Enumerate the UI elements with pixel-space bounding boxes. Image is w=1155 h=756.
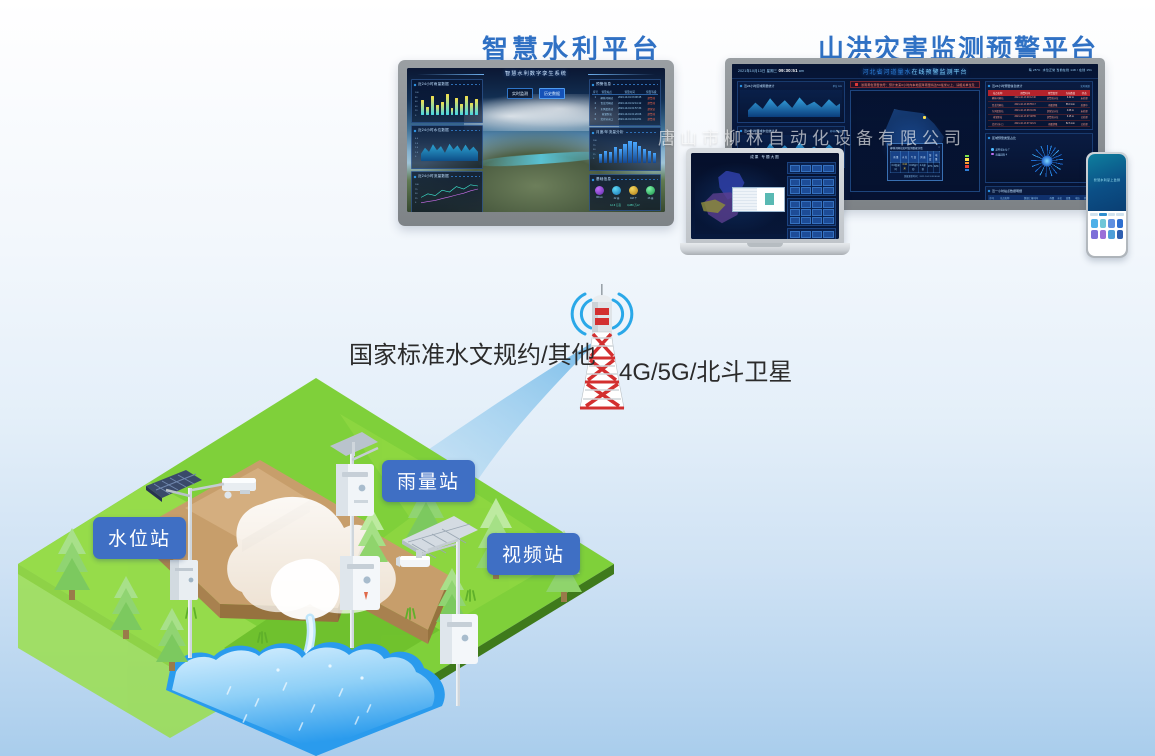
- popup-col-temp: 气 温: [908, 152, 918, 162]
- app-flow-icon[interactable]: [1108, 219, 1115, 228]
- popup-footer: 数据更新时间：2021-10-13 09:30:00: [890, 173, 940, 178]
- total-annual-supply: 3,280 万m³: [627, 203, 640, 207]
- station-icon: [629, 186, 638, 195]
- basic-item: 86 km: [595, 186, 604, 200]
- axis-y-rainfall: 100806040200: [415, 91, 419, 118]
- panel-title: 近一小时站点数据明细: [992, 189, 1022, 193]
- pie-legend: 超警戒水位 7 雨量超限 4: [991, 148, 1009, 157]
- popup-col-wind: 风 速: [919, 152, 927, 162]
- basic-info-items: 86 km 42 座 118 个 26 座: [592, 184, 658, 200]
- bar-series-rainfall: [421, 91, 478, 115]
- phone-banner: 智慧水利掌上监测: [1088, 154, 1126, 211]
- cell-station: 北岸分水口: [599, 117, 615, 122]
- popup-preview: [757, 188, 783, 210]
- panel-waterlevel-title: 近24小时水位数据: [418, 128, 449, 133]
- table-station-detail: 序号 站点名称 数据上报时间 雨量 水位 流量 电压 状态 1: [988, 195, 1090, 200]
- header-date: 2021年10月13日 星期三: [738, 69, 777, 73]
- canal-icon: [595, 186, 604, 195]
- popup-val-temp: 8.08米³/秒: [908, 162, 918, 172]
- laptop-lid: 成果 专题大图: [686, 148, 844, 244]
- laptop-card: [787, 162, 836, 174]
- panel-title: 近24小时区域水位统计: [744, 129, 774, 133]
- panel-basic-title: 基础信息: [596, 177, 611, 182]
- alert-text: 暴雨黄色预警信号：预计未来6小时内本地区降雨量将达50毫米以上，请相关单位及人员…: [861, 83, 975, 87]
- title-prefix: 河北省河道量水: [862, 70, 911, 76]
- header-time-suffix: am: [799, 69, 804, 73]
- stat-grid: [790, 179, 834, 194]
- table-warning-info: 序号 预警站点 预警时间 预警等级 1 柳林河闸站 2023-10-01 03:…: [592, 89, 658, 122]
- popup-val-rain: 0.0毫米/时: [891, 162, 901, 172]
- panel-flow-analysis-title: 月度/年流量分析: [596, 130, 624, 135]
- popup-col-rain: 雨 量: [891, 152, 901, 162]
- monitor1-screen[interactable]: 智慧水利数字孪生系统 实时监测 历史数据 近24小时雨量数据 100806040…: [407, 68, 665, 212]
- weather-text: 晴 25°C: [1029, 68, 1041, 72]
- phone-screen[interactable]: 智慧水利掌上监测: [1088, 154, 1126, 256]
- tab-warning[interactable]: [1108, 213, 1116, 216]
- panel-divider: [451, 84, 480, 85]
- laptop-side-panels: [787, 162, 836, 234]
- tab-home[interactable]: [1090, 213, 1098, 216]
- cell-time: 2023-10-01 00:44:51: [615, 117, 645, 122]
- basic-item: 118 个: [629, 186, 638, 200]
- cell-index: 5: [592, 117, 599, 122]
- panel-divider: [626, 132, 658, 133]
- app-report-icon[interactable]: [1100, 230, 1107, 239]
- network-annotation: 4G/5G/北斗卫星: [619, 352, 792, 387]
- line-series-flow: [421, 183, 478, 207]
- chart-monthly-flow: 1007550250: [592, 137, 658, 167]
- col-rain: 雨量: [1048, 195, 1056, 200]
- cell-level: 超警戒: [645, 117, 658, 122]
- basic-totals: 12.6 万亩 3,280 万m³: [592, 200, 658, 207]
- panel-title: 近24小时区域雨量统计: [744, 84, 774, 88]
- map-station-popup: 柳林河闸站实时监测数据详情× 雨 量 水 位 气 温 风 速 湿 度 电 量: [887, 143, 943, 181]
- popup-val-battery: 92%: [933, 162, 939, 172]
- cell-station: 东风渠首站: [599, 106, 615, 111]
- panel-rainfall-title: 近24小时雨量数据: [418, 82, 449, 87]
- label-rainfall-station[interactable]: 雨量站: [382, 460, 475, 502]
- app-video-icon[interactable]: [1117, 219, 1124, 228]
- panel-warning-stats: 近24小时预警信息统计实时刷新 站点名称 预警时间 预警类型 当前数值 状态 柳…: [985, 81, 1093, 130]
- panel-warning-type-ratio: 区域预警类型占比 超警戒水位 7 雨量超限 4: [985, 133, 1093, 183]
- pie-core: [1042, 156, 1053, 167]
- laptop-card: [787, 228, 836, 239]
- legend-warning-swatch: [965, 158, 969, 161]
- map-legend: [965, 155, 969, 172]
- legend-normal-swatch: [965, 155, 969, 158]
- cell-status: 已处理: [1078, 121, 1090, 127]
- popup-header-row: 雨 量 水 位 气 温 风 速 湿 度 电 量: [891, 152, 940, 162]
- map-container[interactable]: 柳林河闸站实时监测数据详情× 雨 量 水 位 气 温 风 速 湿 度 电 量: [850, 90, 980, 192]
- legend-offline-swatch: [965, 169, 969, 172]
- popup-val-level: 3.42米: [901, 162, 908, 172]
- panel-badge: 实时刷新: [1080, 84, 1090, 88]
- panel-badge: 单位 mm: [833, 84, 842, 88]
- axis-y-monthly: 1007550250: [593, 139, 597, 162]
- label-video-station[interactable]: 视频站: [487, 533, 580, 575]
- panel-flow-title: 近24小时流量数据: [418, 174, 449, 179]
- laptop-card: [787, 198, 836, 226]
- axis-y-waterlevel: 4.03.02.01.00: [415, 137, 418, 160]
- control-cabinet-icon: [340, 556, 380, 610]
- popup-val-wind: 2.4米/秒: [919, 162, 927, 172]
- axis-y-flow: 1007550250: [415, 183, 419, 206]
- laptop-popup: [732, 187, 784, 211]
- stat-grid: [790, 231, 834, 240]
- area-fill: [748, 93, 840, 117]
- basic-value: 118 个: [629, 196, 638, 200]
- phone-device: 智慧水利掌上监测: [1086, 152, 1128, 258]
- chart-pie-warning-type: 超警戒水位 7 雨量超限 4: [988, 142, 1090, 180]
- app-settings-icon[interactable]: [1117, 230, 1124, 239]
- chart-rainfall-bar: 100806040200: [414, 89, 480, 119]
- dashboard1-title: 智慧水利数字孪生系统: [407, 70, 665, 77]
- cell-station: 柳林河闸站: [599, 95, 615, 101]
- lake: [166, 642, 445, 756]
- header-datetime: 2021年10月13日 星期三 09:30:51 am: [738, 68, 804, 73]
- header-time: 09:30:51: [779, 68, 798, 73]
- gate-icon: [612, 186, 621, 195]
- header-meta: 晴 25°C 水位正常 当前在线 148 / 在线 151: [1029, 68, 1092, 72]
- popup-col-battery: 电 量: [933, 152, 939, 162]
- alert-banner: 暴雨黄色预警信号：预计未来6小时内本地区降雨量将达50毫米以上，请相关单位及人员…: [850, 81, 980, 88]
- dashboard2-right-column: 近24小时预警信息统计实时刷新 站点名称 预警时间 预警类型 当前数值 状态 柳…: [985, 81, 1093, 194]
- control-cabinet-icon: [336, 464, 374, 516]
- monitor-smart-water: 智慧水利数字孪生系统 实时监测 历史数据 近24小时雨量数据 100806040…: [398, 60, 674, 226]
- phone-app-title: 智慧水利掌上监测: [1088, 178, 1126, 182]
- col-index: 序号: [988, 195, 996, 200]
- illustration-stage: 智慧水利平台 山洪灾害监测预警平台 智慧水利数字孪生系统 实时监测 历史数据 近…: [0, 0, 1155, 756]
- app-rainfall-icon[interactable]: [1091, 219, 1098, 228]
- popup-table: 雨 量 水 位 气 温 风 速 湿 度 电 量 0.0毫米/时 3.42米: [890, 151, 940, 173]
- cell-value: 52.6 mm: [1062, 121, 1078, 127]
- table-row: 5 北岸分水口 2023-10-01 00:44:51 超警戒: [592, 117, 658, 122]
- panel-title: 区域预警类型占比: [992, 136, 1016, 140]
- tab-monitor[interactable]: [1099, 213, 1107, 216]
- panel-basic-info: 基础信息 86 km 42 座 118 个 26 座 12.6 万亩 3,280…: [589, 174, 661, 211]
- legend-entry: 雨量超限 4: [991, 153, 1009, 158]
- panel-selector[interactable]: 柳林河闸站: [830, 129, 842, 133]
- app-waterlevel-icon[interactable]: [1100, 219, 1107, 228]
- basic-value: 86 km: [595, 196, 604, 199]
- pill-history[interactable]: 历史数据: [539, 88, 565, 99]
- region-map[interactable]: 柳林河闸站实时监测数据详情× 雨 量 水 位 气 温 风 速 湿 度 电 量: [857, 97, 973, 185]
- laptop-notch: [747, 243, 783, 247]
- panel-title: 近24小时预警信息统计: [992, 84, 1022, 88]
- panel-divider: [451, 176, 480, 177]
- laptop-title: 成果 专题大图: [691, 155, 839, 160]
- popup-title: 柳林河闸站实时监测数据详情: [890, 146, 923, 150]
- laptop-device: 成果 专题大图: [680, 148, 850, 263]
- basic-value: 26 座: [646, 196, 655, 200]
- total-irrigation-area: 12.6 万亩: [610, 203, 621, 207]
- laptop-card: [787, 176, 836, 196]
- tab-profile[interactable]: [1116, 213, 1124, 216]
- legend-danger-swatch: [965, 165, 969, 168]
- popup-value-row: 0.0毫米/时 3.42米 8.08米³/秒 2.4米/秒 27% 92%: [891, 162, 940, 172]
- panel-warning-info: 预警信息 序号 预警站点 预警时间 预警等级 1 柳林河闸站 2023-10-0…: [589, 79, 661, 126]
- basic-item: 26 座: [646, 186, 655, 200]
- col-flow: 流量: [1063, 195, 1072, 200]
- panel-divider: [451, 130, 480, 131]
- panel-divider: [613, 179, 658, 180]
- popup-list: [733, 188, 757, 210]
- panel-rainfall-24h: 近24小时雨量数据 100806040200: [411, 79, 483, 123]
- popup-close-icon[interactable]: ×: [938, 146, 939, 150]
- area-series-waterlevel: [421, 137, 478, 161]
- control-cabinet-icon: [440, 614, 478, 664]
- col-station: 站点名称: [996, 195, 1014, 200]
- alert-icon: [855, 83, 858, 86]
- panel-area-rainfall: 近24小时区域雨量统计单位 mm: [737, 81, 845, 123]
- cell-type: 雨量超限: [1043, 121, 1062, 127]
- app-device-icon[interactable]: [1108, 230, 1115, 239]
- popup-col-level: 水 位: [901, 152, 908, 162]
- col-report-time: 数据上报时间: [1014, 195, 1048, 200]
- panel-divider: [613, 84, 658, 85]
- chart-flow-line: 1007550250: [414, 181, 480, 211]
- dashboard2-header: 2021年10月13日 星期三 09:30:51 am 河北省河道量水在线预警监…: [732, 64, 1098, 79]
- table-header-row: 序号 站点名称 数据上报时间 雨量 水位 流量 电压 状态: [988, 195, 1090, 200]
- stat-grid: [790, 201, 834, 224]
- basic-value: 42 座: [612, 196, 621, 200]
- col-level: 水位: [1056, 195, 1064, 200]
- chart-waterlevel-area: 4.03.02.01.00: [414, 135, 480, 165]
- laptop-screen[interactable]: 成果 专题大图: [691, 153, 839, 239]
- table-warning-stats: 站点名称 预警时间 预警类型 当前数值 状态 柳林河闸站 2021-10-13 …: [988, 90, 1090, 127]
- cell-station: 青龙湾闸站: [599, 101, 615, 106]
- panel-station-detail: 近一小时站点数据明细 序号 站点名称 数据上报时间 雨量 水位 流量 电压 状态: [985, 186, 1093, 200]
- table-row: 北岸分水口 2021-10-13 07:02:21 雨量超限 52.6 mm 已…: [988, 121, 1090, 127]
- dashboard2-title: 河北省河道量水在线预警监测平台: [862, 67, 967, 76]
- phone-app-grid[interactable]: [1088, 216, 1126, 242]
- laptop-dashboard: 成果 专题大图: [691, 153, 839, 239]
- legend-alert-swatch: [965, 162, 969, 165]
- dashboard1-pills[interactable]: 实时监测 历史数据: [507, 88, 565, 99]
- cell-station: 北岸分水口: [988, 121, 1007, 127]
- control-cabinet-icon: [170, 560, 198, 600]
- col-voltage: 电压: [1073, 195, 1083, 200]
- label-water-level-station[interactable]: 水位站: [93, 517, 186, 559]
- stat-grid: [790, 165, 834, 172]
- panel-waterlevel-24h: 近24小时水位数据 4.03.02.01.00: [411, 125, 483, 169]
- chart-area-rainfall: [740, 90, 842, 120]
- bar-series-monthly: [599, 139, 656, 163]
- app-warning-icon[interactable]: [1091, 230, 1098, 239]
- panel-flow-analysis: 月度/年流量分析 1007550250: [589, 127, 661, 171]
- title-main: 在线预警监测平台: [912, 70, 968, 76]
- online-stats: 水位正常 当前在线 148 / 在线 151: [1043, 68, 1092, 72]
- pump-icon: [646, 186, 655, 195]
- panel-warning-title: 预警信息: [596, 82, 611, 87]
- basic-item: 42 座: [612, 186, 621, 200]
- cell-time: 2021-10-13 07:02:21: [1007, 121, 1043, 127]
- pill-realtime[interactable]: 实时监测: [507, 88, 533, 99]
- panel-flow-24h: 近24小时流量数据 1007550250: [411, 171, 483, 212]
